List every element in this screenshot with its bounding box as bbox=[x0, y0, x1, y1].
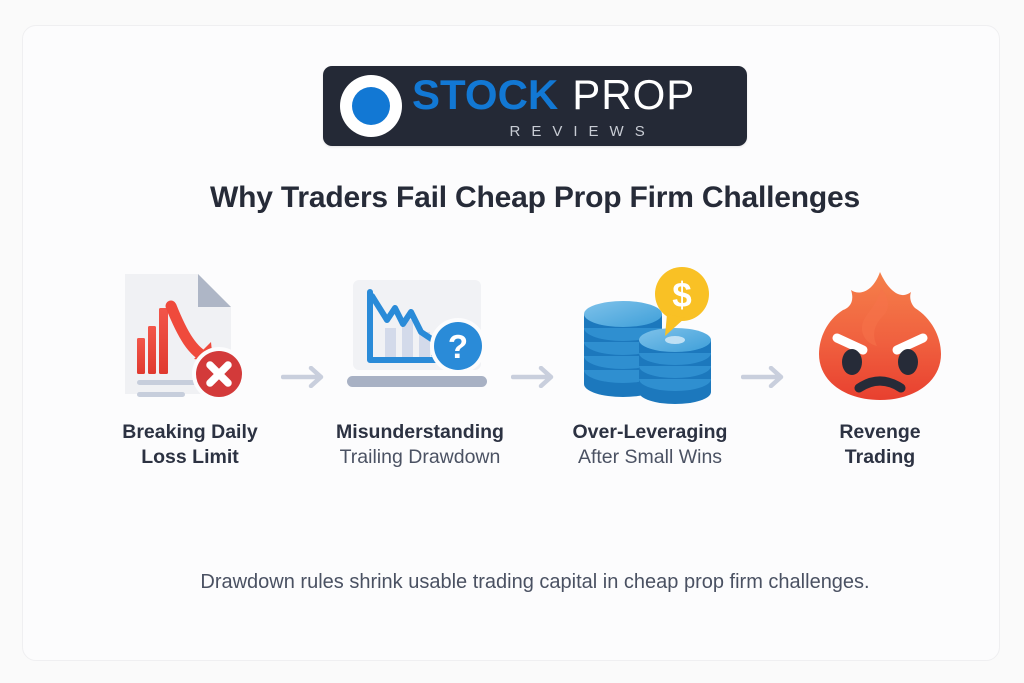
step-row: Breaking Daily Loss Limit bbox=[83, 266, 987, 470]
arrow-right-icon bbox=[737, 266, 793, 406]
logo-stock-text: STOCK bbox=[412, 74, 558, 116]
logo-wordmark: STOCK PROP REVIEWS bbox=[412, 72, 695, 140]
step-label-top: Breaking Daily bbox=[97, 420, 283, 445]
arrow-right-icon bbox=[507, 266, 563, 406]
step-label: Misunderstanding Trailing Drawdown bbox=[327, 420, 513, 470]
svg-text:?: ? bbox=[448, 328, 468, 365]
laptop-declining-chart-question-icon: ? bbox=[345, 266, 495, 406]
infographic-card: STOCK PROP REVIEWS Why Traders Fail Chea… bbox=[22, 25, 1000, 661]
step-label-top: Misunderstanding bbox=[327, 420, 513, 445]
step-label: Breaking Daily Loss Limit bbox=[97, 420, 283, 470]
step-label-top: Over-Leveraging bbox=[557, 420, 743, 445]
step-item-revenge-trading: Revenge Trading bbox=[793, 266, 967, 470]
footer-caption: Drawdown rules shrink usable trading cap… bbox=[23, 571, 1024, 594]
brand-logo: STOCK PROP REVIEWS bbox=[323, 66, 747, 146]
step-label-bottom: Trading bbox=[787, 445, 973, 470]
step-item-misunderstanding-trailing-drawdown: ? Misunderstanding Trailing Drawdown bbox=[333, 266, 507, 470]
coin-stacks-dollar-bubble-icon: $ bbox=[575, 266, 725, 406]
logo-circle-inner bbox=[352, 87, 390, 125]
logo-reviews-text: REVIEWS bbox=[412, 123, 695, 140]
svg-text:$: $ bbox=[672, 276, 691, 315]
angry-flame-face-icon bbox=[805, 266, 955, 406]
infographic-stage: STOCK PROP REVIEWS Why Traders Fail Chea… bbox=[0, 0, 1024, 683]
arrow-right-icon bbox=[277, 266, 333, 406]
document-declining-chart-error-icon bbox=[115, 266, 265, 406]
logo-circle-icon bbox=[340, 75, 402, 137]
step-item-breaking-daily-loss-limit: Breaking Daily Loss Limit bbox=[103, 266, 277, 470]
logo-prop-text: PROP bbox=[572, 74, 695, 116]
page-title: Why Traders Fail Cheap Prop Firm Challen… bbox=[23, 181, 1024, 215]
step-item-over-leveraging-after-small-wins: $ Over-Leveraging After Small Wins bbox=[563, 266, 737, 470]
step-label: Revenge Trading bbox=[787, 420, 973, 470]
step-label-top: Revenge bbox=[787, 420, 973, 445]
step-label-bottom: Trailing Drawdown bbox=[327, 445, 513, 470]
step-label-bottom: Loss Limit bbox=[97, 445, 283, 470]
step-label-bottom: After Small Wins bbox=[557, 445, 743, 470]
logo-primary-row: STOCK PROP bbox=[412, 74, 695, 116]
step-label: Over-Leveraging After Small Wins bbox=[557, 420, 743, 470]
